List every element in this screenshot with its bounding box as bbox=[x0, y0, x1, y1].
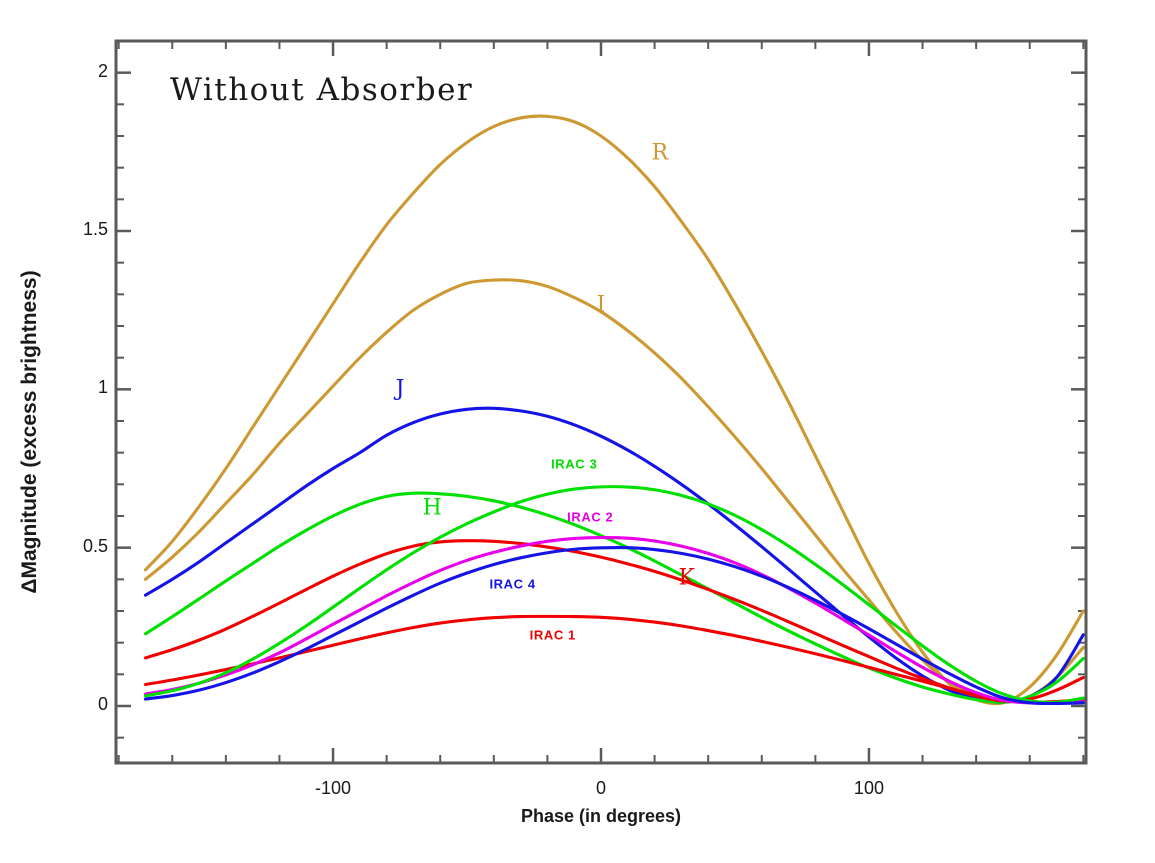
series-label-layer: RIJHKIRAC 1IRAC 2IRAC 3IRAC 4 bbox=[0, 0, 1155, 863]
series-label-j: J bbox=[396, 377, 405, 402]
series-label-r: R bbox=[652, 141, 669, 166]
series-label-irac-4: IRAC 4 bbox=[489, 577, 535, 592]
series-label-i: I bbox=[597, 293, 606, 318]
series-label-h: H bbox=[423, 496, 442, 521]
series-label-k: K bbox=[679, 565, 695, 590]
chart-figure: ΔMagnitude (excess brightness) 00.511.52… bbox=[0, 0, 1155, 863]
series-label-irac-3: IRAC 3 bbox=[551, 456, 597, 471]
series-label-irac-1: IRAC 1 bbox=[530, 627, 576, 642]
series-label-irac-2: IRAC 2 bbox=[567, 509, 613, 524]
